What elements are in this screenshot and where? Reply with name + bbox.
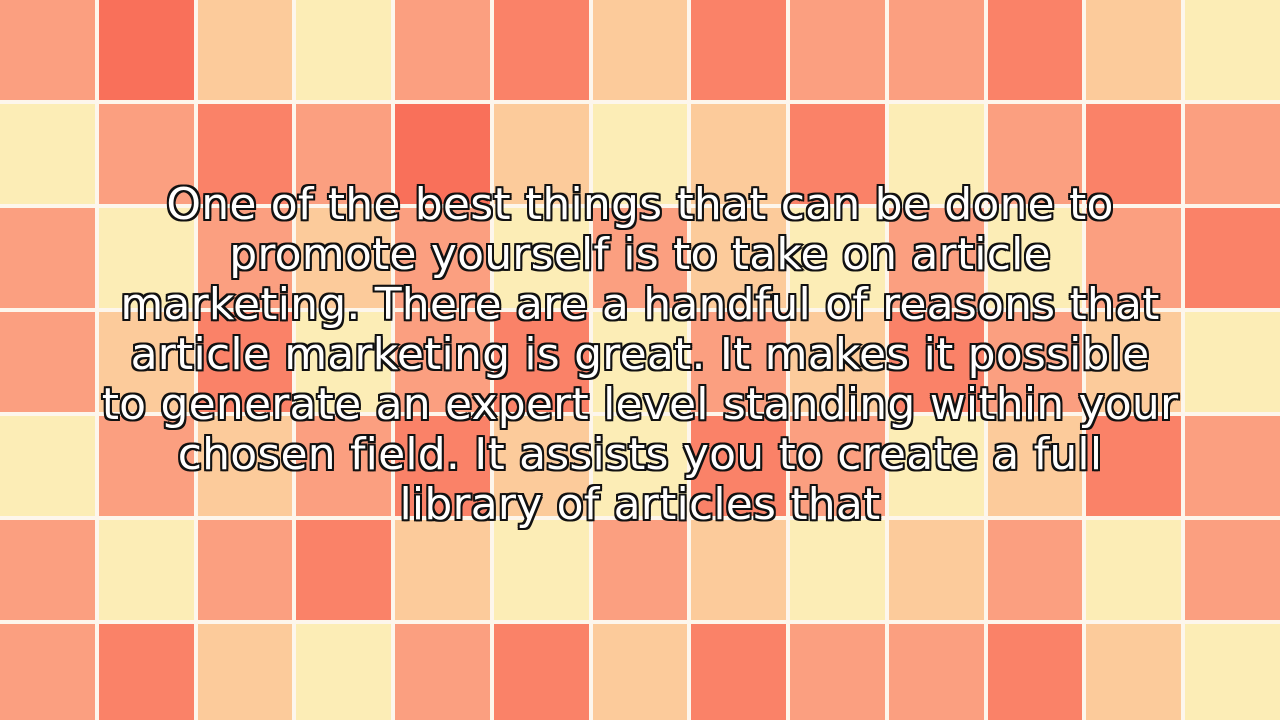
caption-layer: One of the best things that can be done …: [0, 0, 1280, 720]
video-text-slide: One of the best things that can be done …: [0, 0, 1280, 720]
caption-text: One of the best things that can be done …: [50, 180, 1230, 530]
